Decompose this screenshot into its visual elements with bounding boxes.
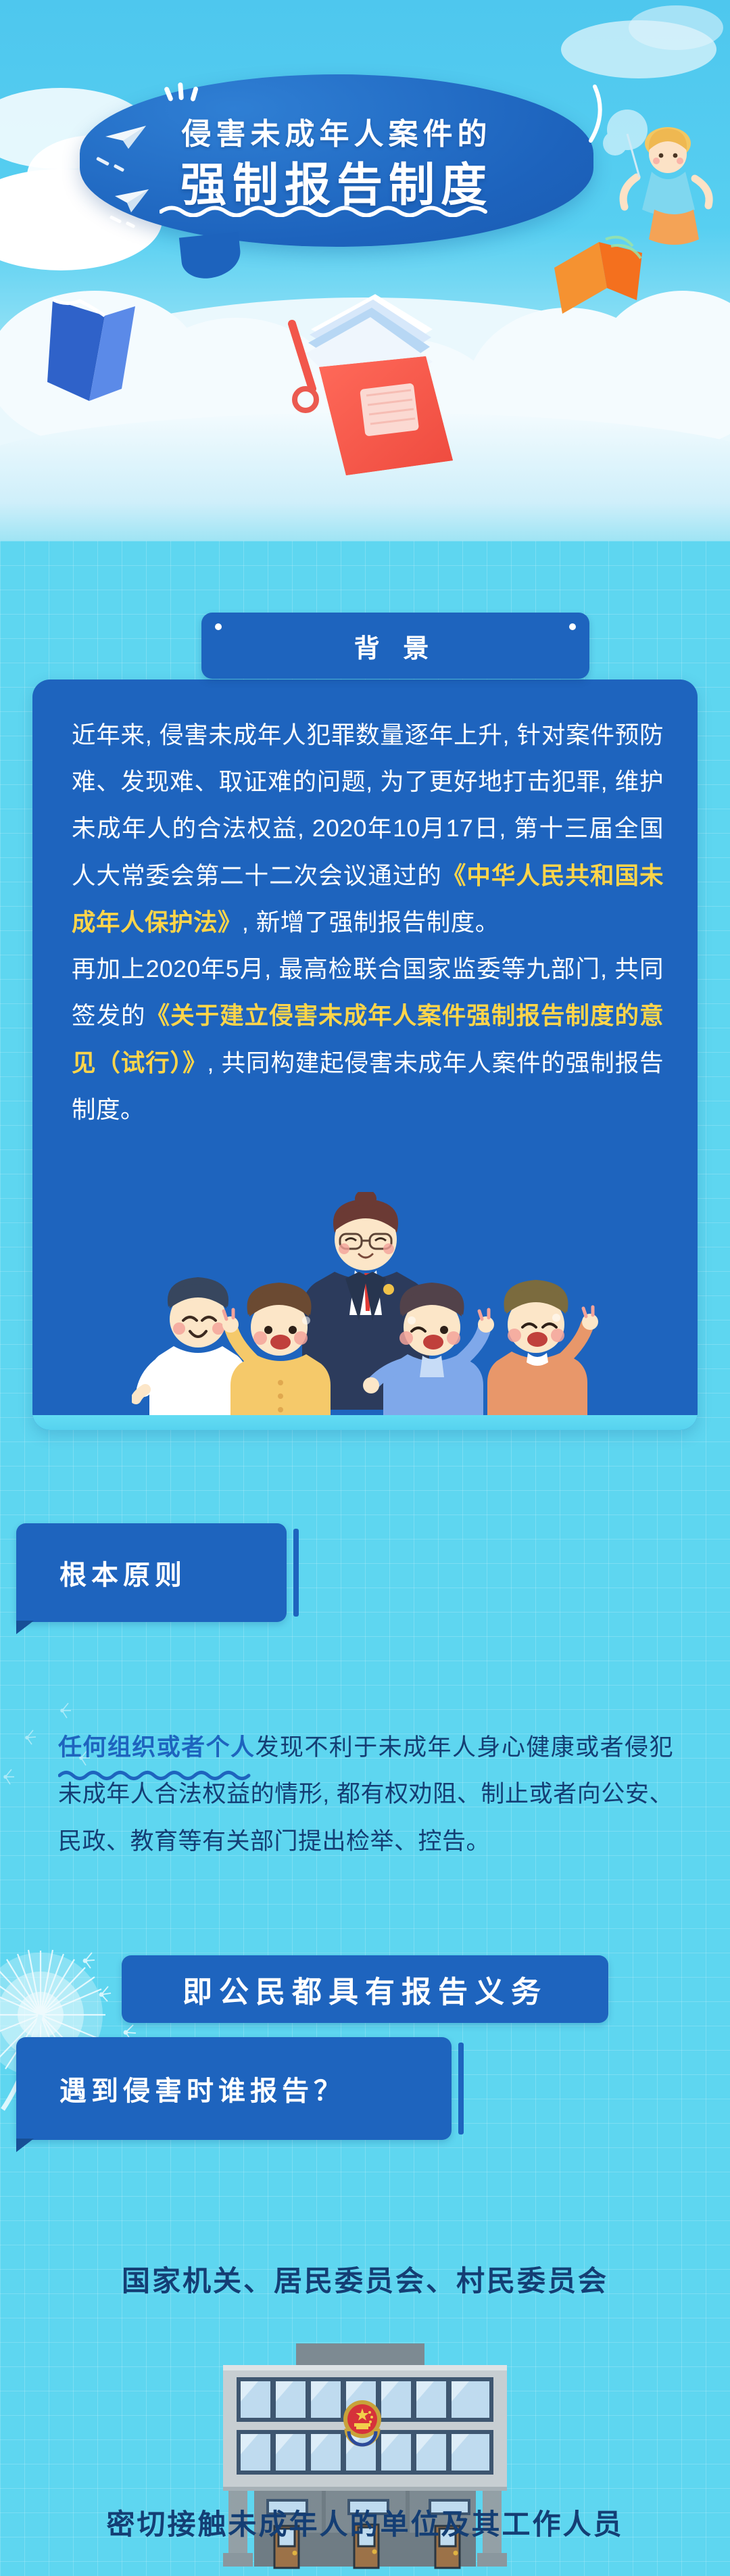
who-reports-headline-2: 密切接触未成年人的单位及其工作人员 — [0, 2502, 730, 2543]
badge-tick — [458, 2043, 464, 2134]
fairy-girl-illustration — [596, 101, 718, 257]
callout-label: 即公民都具有报告义务 — [182, 1967, 547, 2011]
background-paragraph-2: 再加上2020年5月, 最高检联合国家监委等九部门, 共同签发的《关于建立侵害未… — [72, 946, 664, 1133]
underline-squiggle-icon — [160, 204, 511, 217]
sparkle-swoosh-icon — [514, 80, 608, 161]
badge-tick — [293, 1529, 299, 1617]
section-badge-fundamental-principle: 根本原则 — [16, 1523, 287, 1622]
hero-banner: 侵害未成年人案件的 强制报告制度 — [0, 0, 730, 541]
sparkle-mark-icon — [178, 82, 184, 100]
cloud-decoration — [629, 5, 723, 50]
prosecutor-with-children-illustration — [132, 1192, 598, 1415]
badge-notch — [16, 1621, 34, 1634]
section-badge-who-reports: 遇到侵害时谁报告？ — [16, 2037, 452, 2140]
child-figure-1 — [136, 1277, 247, 1415]
card-floor — [32, 1415, 698, 1430]
section-badge-label: 背 景 — [354, 627, 437, 665]
section-badge-background: 背 景 — [201, 613, 589, 679]
pin-dot-right — [569, 623, 576, 630]
fundamental-principle-callout: 即公民都具有报告义务 — [122, 1955, 608, 2023]
background-card: 近年来, 侵害未成年人犯罪数量逐年上升, 针对案件预防难、发现难、取证难的问题,… — [32, 679, 698, 1430]
who-reports-headline-1: 国家机关、居民委员会、村民委员会 — [0, 2258, 730, 2299]
section-badge-label: 遇到侵害时谁报告？ — [59, 2069, 345, 2108]
paragraph-run: , 新增了强制报告制度。 — [242, 909, 500, 936]
sparkle-mark-icon — [164, 86, 174, 101]
child-figure-4 — [487, 1280, 598, 1415]
flying-book-icon — [230, 267, 514, 490]
paper-plane-icon — [112, 187, 153, 218]
pin-dot-left — [215, 623, 222, 630]
background-paragraph-1: 近年来, 侵害未成年人犯罪数量逐年上升, 针对案件预防难、发现难、取证难的问题,… — [72, 712, 664, 946]
paper-plane-icon — [103, 122, 151, 156]
flying-book-icon — [41, 287, 155, 409]
infographic-poster: 侵害未成年人案件的 强制报告制度 — [0, 0, 730, 2576]
fundamental-principle-text: 任何组织或者个人发现不利于未成年人身心健康或者侵犯未成年人合法权益的情形, 都有… — [58, 1724, 673, 1865]
background-card-text: 近年来, 侵害未成年人犯罪数量逐年上升, 针对案件预防难、发现难、取证难的问题,… — [72, 712, 664, 1133]
section-badge-label: 根本原则 — [59, 1553, 187, 1592]
sparkle-mark-icon — [190, 86, 199, 101]
accent-phrase: 任何组织或者个人 — [58, 1734, 255, 1761]
wavy-underline-icon — [58, 1769, 261, 1781]
